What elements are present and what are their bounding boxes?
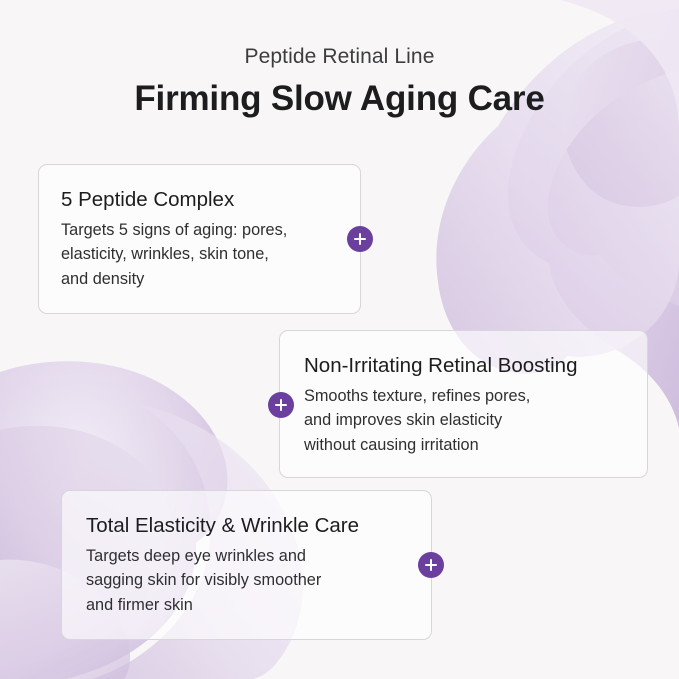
plus-icon[interactable] [268, 392, 294, 418]
card-title: Total Elasticity & Wrinkle Care [86, 513, 411, 539]
feature-card-retinal-boosting: Non-Irritating Retinal Boosting Smooths … [279, 330, 648, 478]
plus-icon[interactable] [347, 226, 373, 252]
plus-icon[interactable] [418, 552, 444, 578]
feature-card-peptide-complex: 5 Peptide Complex Targets 5 signs of agi… [38, 164, 361, 314]
eyebrow-text: Peptide Retinal Line [0, 44, 679, 69]
card-body: Targets deep eye wrinkles and sagging sk… [86, 544, 411, 618]
card-body: Smooths texture, refines pores, and impr… [304, 384, 627, 458]
card-title: 5 Peptide Complex [61, 187, 340, 213]
header-block: Peptide Retinal Line Firming Slow Aging … [0, 44, 679, 119]
feature-card-elasticity-wrinkle: Total Elasticity & Wrinkle Care Targets … [61, 490, 432, 640]
poster-canvas: Peptide Retinal Line Firming Slow Aging … [0, 0, 679, 679]
card-body: Targets 5 signs of aging: pores, elastic… [61, 218, 340, 292]
card-title: Non-Irritating Retinal Boosting [304, 353, 627, 379]
page-title: Firming Slow Aging Care [0, 79, 679, 119]
